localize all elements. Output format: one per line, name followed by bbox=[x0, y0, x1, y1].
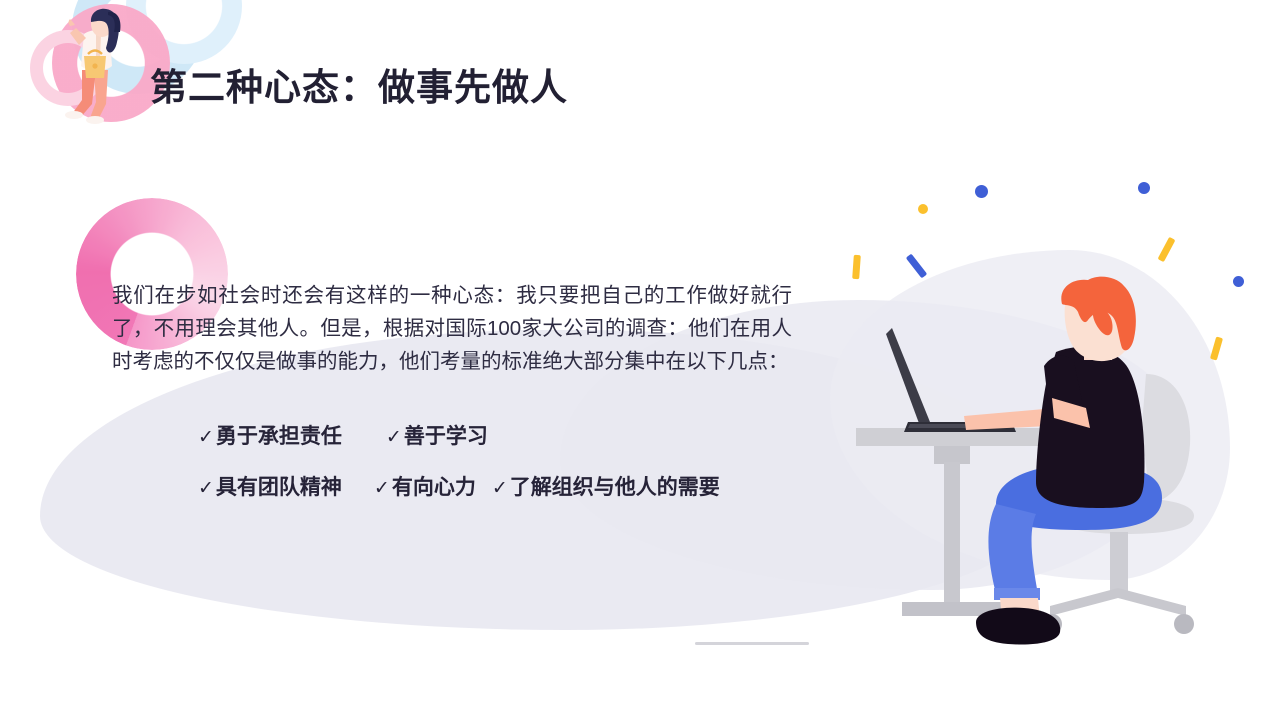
bullet-label: 善于学习 bbox=[404, 420, 488, 450]
bullet-item-2: ✓ 善于学习 bbox=[386, 420, 488, 450]
bullet-item-1: ✓ 勇于承担责任 bbox=[198, 420, 342, 450]
check-icon: ✓ bbox=[374, 477, 390, 500]
slide-canvas: 第二种心态：做事先做人 我们在步如社会时还会有这样的一种心态：我只要把自己的工作… bbox=[0, 0, 1280, 720]
bullet-row-1: ✓ 勇于承担责任 ✓ 善于学习 bbox=[198, 420, 720, 450]
walking-woman-illustration bbox=[46, 8, 156, 126]
bullet-label: 了解组织与他人的需要 bbox=[510, 471, 720, 501]
bullet-label: 具有团队精神 bbox=[216, 471, 342, 501]
confetti-dot-blue-1 bbox=[975, 185, 988, 198]
check-icon: ✓ bbox=[492, 477, 508, 500]
body-paragraph: 我们在步如社会时还会有这样的一种心态：我只要把自己的工作做好就行了，不用理会其他… bbox=[112, 279, 792, 378]
confetti-bar-yellow-2 bbox=[1158, 237, 1176, 262]
page-title: 第二种心态：做事先做人 bbox=[150, 57, 568, 111]
check-icon: ✓ bbox=[198, 477, 214, 500]
bullet-list: ✓ 勇于承担责任 ✓ 善于学习 ✓ 具有团队精神 ✓ 有向心力 ✓ 了解组织与他 bbox=[198, 420, 720, 522]
confetti-bar-blue-1 bbox=[906, 254, 928, 279]
bullet-item-4: ✓ 有向心力 bbox=[374, 471, 476, 501]
check-icon: ✓ bbox=[198, 426, 214, 449]
bullet-label: 有向心力 bbox=[392, 471, 476, 501]
bullet-label: 勇于承担责任 bbox=[216, 420, 342, 450]
confetti-dot-blue-2 bbox=[1138, 182, 1150, 194]
man-at-desk-illustration bbox=[846, 276, 1236, 668]
bullet-item-3: ✓ 具有团队精神 bbox=[198, 471, 342, 501]
check-icon: ✓ bbox=[386, 426, 402, 449]
bullet-item-5: ✓ 了解组织与他人的需要 bbox=[492, 471, 720, 501]
ground-line bbox=[695, 642, 809, 645]
bullet-row-2: ✓ 具有团队精神 ✓ 有向心力 ✓ 了解组织与他人的需要 bbox=[198, 471, 720, 501]
confetti-dot-yellow-1 bbox=[918, 204, 928, 214]
